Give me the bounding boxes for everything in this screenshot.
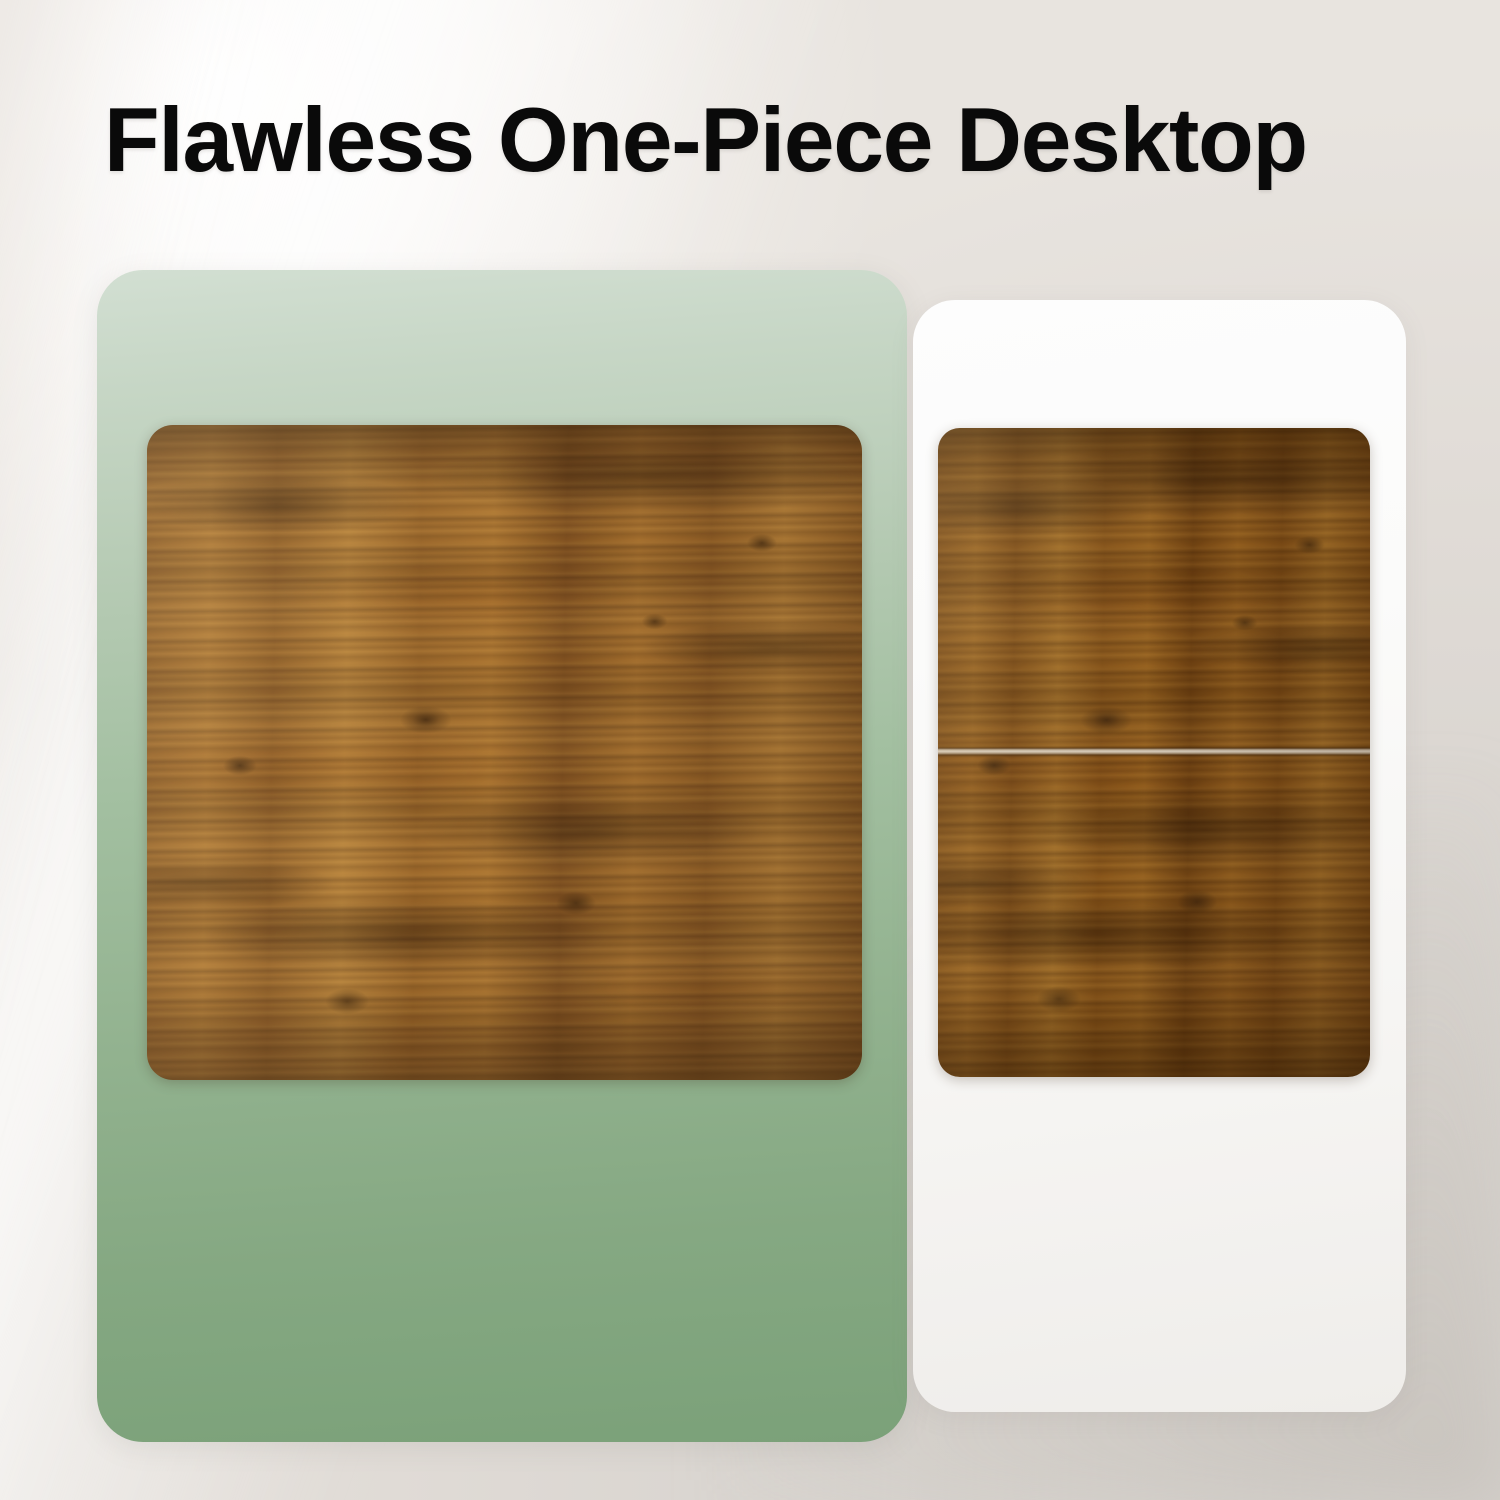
product-image-others (938, 428, 1370, 1077)
wood-sheen-icon (147, 425, 862, 1080)
page-title: Flawless One-Piece Desktop (104, 92, 1434, 190)
wood-texture-others (938, 428, 1370, 1077)
product-image-ours (147, 425, 862, 1080)
promo-image-canvas: Flawless One-Piece Desktop Seamless & St… (0, 0, 1500, 1500)
wood-sheen-icon (938, 428, 1370, 1077)
wood-texture-ours (147, 425, 862, 1080)
